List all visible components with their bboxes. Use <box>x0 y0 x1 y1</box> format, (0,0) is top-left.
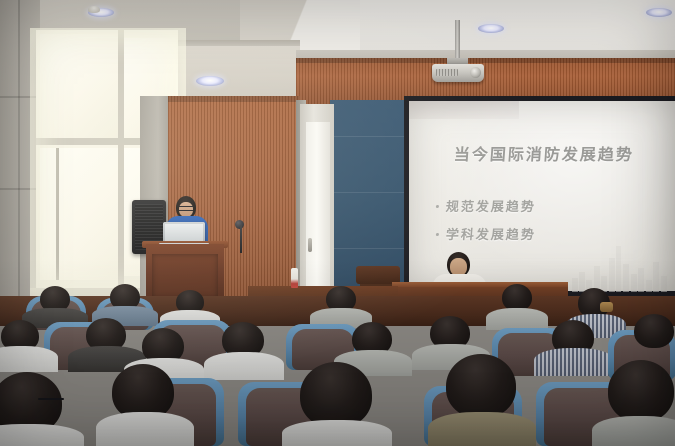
smoke-detector <box>88 6 100 13</box>
audience-shoulders <box>96 412 194 446</box>
white-door[interactable] <box>306 122 330 296</box>
audience-head <box>502 284 532 311</box>
wood-band-shadow <box>296 58 675 63</box>
audience-shoulders <box>0 346 58 372</box>
blue-panel-seam-3 <box>330 248 412 249</box>
audience-head <box>634 314 674 348</box>
audience-shoulders <box>592 416 675 446</box>
audience-shoulders <box>428 412 536 446</box>
laptop-display <box>165 224 203 241</box>
audience-head <box>446 354 516 418</box>
audience-shoulders <box>486 308 548 330</box>
door-handle[interactable] <box>308 238 312 252</box>
audience-shoulders <box>0 424 84 446</box>
presenter-glasses <box>179 206 193 211</box>
audience-shoulders <box>282 420 392 446</box>
blue-panel-seam-2 <box>330 192 412 193</box>
blue-panel-seam-1 <box>330 136 412 137</box>
wall-groove-3 <box>18 0 20 300</box>
downlight-3 <box>196 76 224 86</box>
audience <box>0 286 675 446</box>
water-bottle <box>291 268 298 288</box>
downlight-5 <box>646 8 672 17</box>
wood-wall-top-shadow <box>168 96 300 102</box>
projector-vent <box>436 69 458 76</box>
audience-head <box>608 360 674 422</box>
hair-clip <box>600 302 613 312</box>
audience-head <box>300 362 372 428</box>
audience-shoulders <box>534 348 614 376</box>
audience-shoulders <box>204 352 284 380</box>
lecture-hall-photo: 当今国际消防发展趋势 规范发展趋势 学科发展趋势 <box>0 0 675 446</box>
projector-lens <box>470 67 481 78</box>
downlight-4 <box>478 24 504 33</box>
eyeglasses <box>38 398 64 400</box>
projector-pole <box>455 20 460 62</box>
microphone-stand <box>240 225 242 253</box>
